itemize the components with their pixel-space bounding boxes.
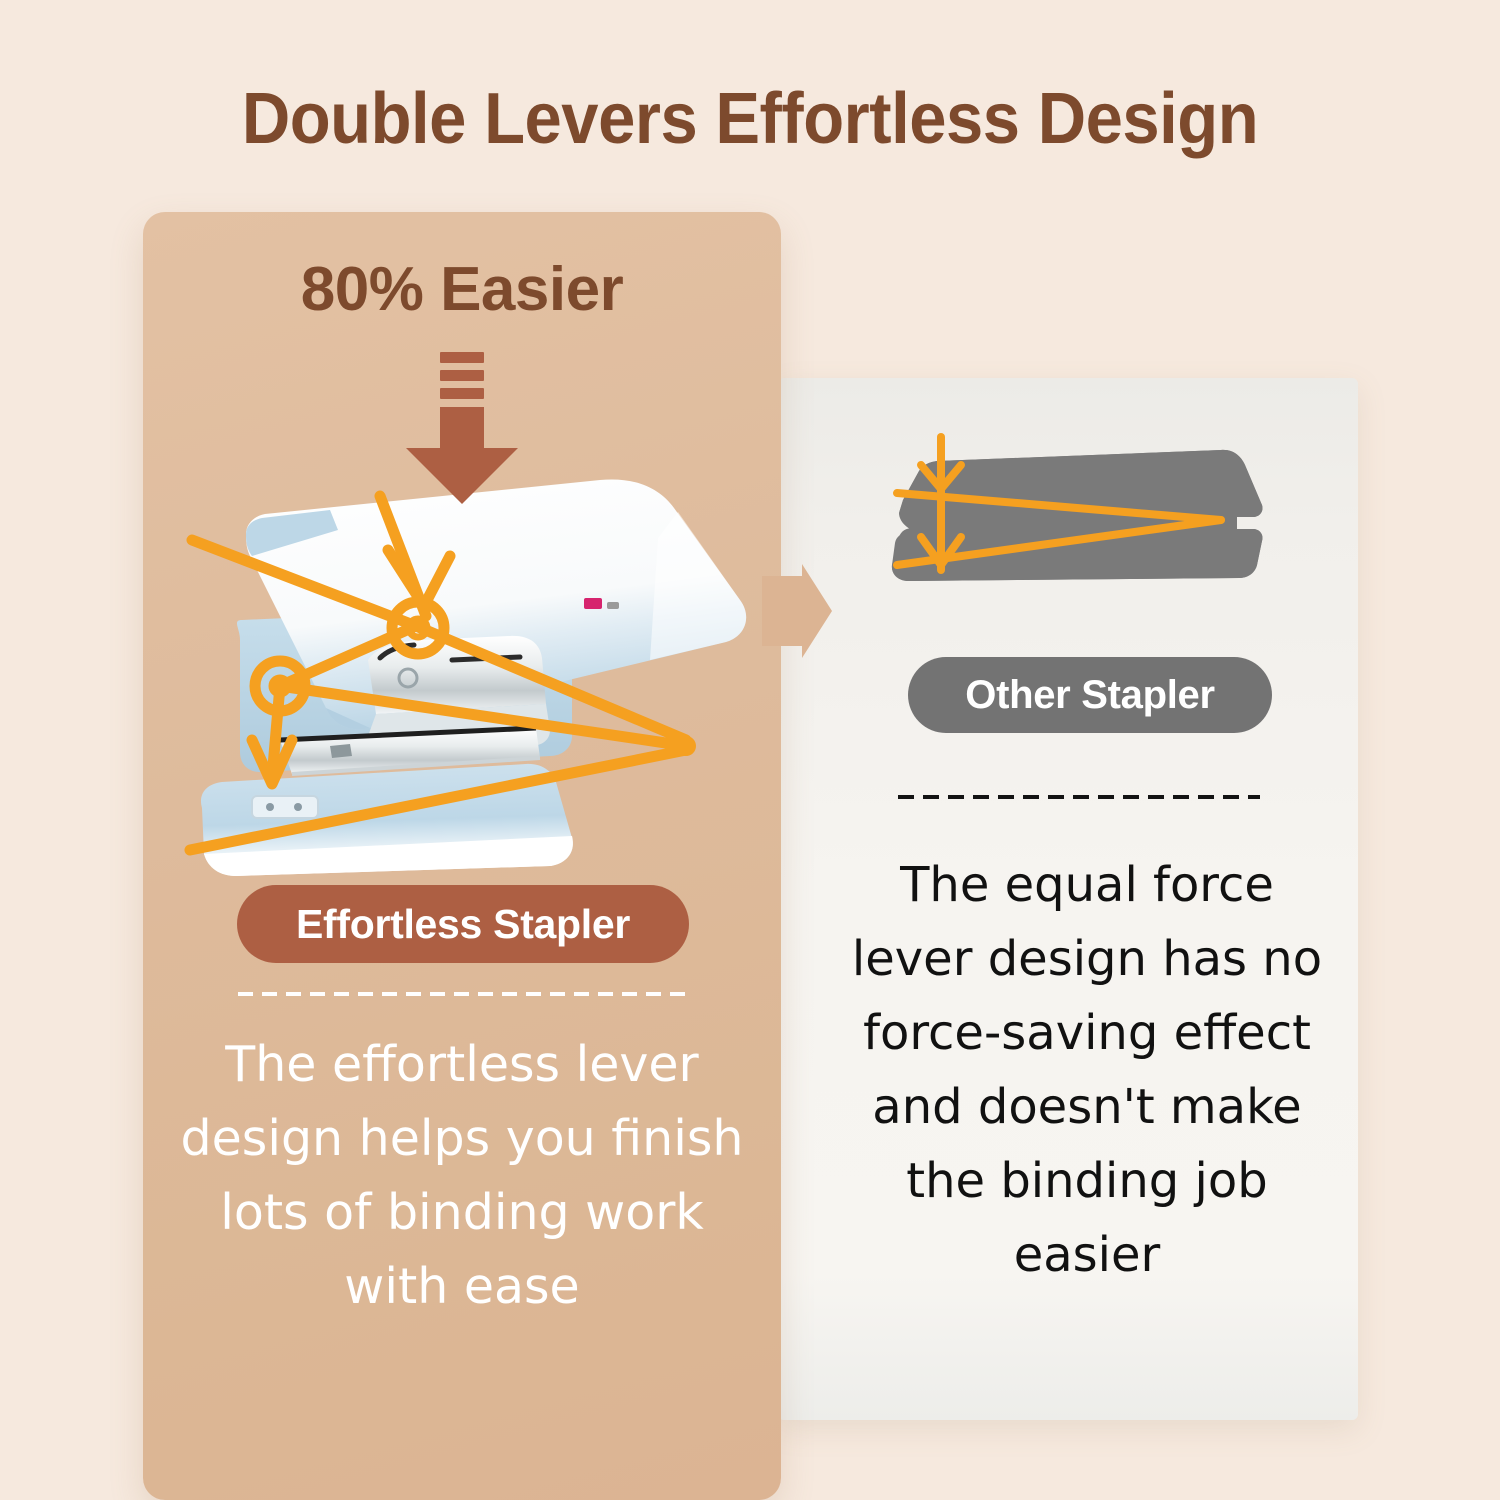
lever-vertex	[676, 736, 696, 756]
other-stapler-illustration	[885, 425, 1295, 635]
press-down-arrow-icon	[396, 352, 524, 504]
right-divider	[898, 795, 1260, 799]
page-title: Double Levers Effortless Design	[53, 78, 1448, 160]
effortless-stapler-description: The effortless lever design helps you fi…	[170, 1028, 754, 1324]
easier-headline: 80% Easier	[143, 254, 781, 325]
effortless-stapler-illustration	[180, 478, 770, 878]
badge-label: Effortless Stapler	[296, 901, 630, 948]
badge-label: Other Stapler	[965, 673, 1215, 718]
effortless-stapler-badge: Effortless Stapler	[237, 885, 689, 963]
other-stapler-badge: Other Stapler	[908, 657, 1272, 733]
other-stapler-description: The equal force lever design has no forc…	[842, 848, 1332, 1292]
comparison-arrow-icon	[762, 558, 832, 664]
left-divider	[238, 992, 688, 996]
